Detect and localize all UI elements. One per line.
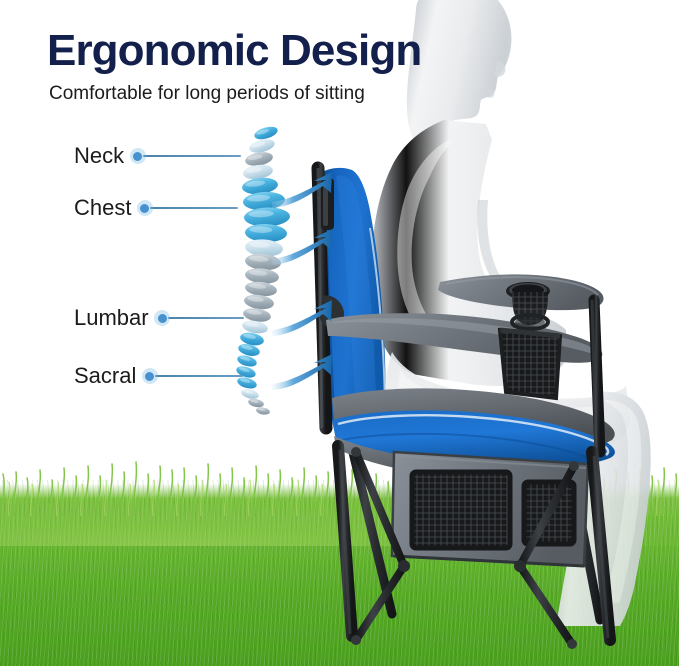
spine-vertebra-highlight <box>249 241 270 248</box>
spine-vertebra-highlight <box>247 154 263 161</box>
spine-vertebra-highlight <box>240 344 253 351</box>
spine-vertebra <box>248 137 276 155</box>
spine-vertebra <box>255 406 270 415</box>
callout-label: Neck <box>74 144 124 168</box>
support-arrow <box>272 354 332 390</box>
spine-vertebra-highlight <box>246 309 262 316</box>
chair-backrest <box>320 168 386 422</box>
spine-vertebra-highlight <box>247 194 270 202</box>
spine-vertebra <box>244 207 291 228</box>
spine-vertebra <box>244 267 279 285</box>
chair-armrest-right <box>438 274 604 329</box>
callout-lumbar[interactable]: Lumbar <box>74 306 244 330</box>
spine-vertebra-highlight <box>257 408 265 412</box>
callout-dot-icon <box>145 372 154 381</box>
spine-vertebra <box>244 150 274 168</box>
spine-vertebra-highlight <box>249 255 269 262</box>
spine-vertebra-highlight <box>239 355 251 361</box>
spine-vertebra <box>253 124 279 141</box>
spine-vertebra <box>247 397 264 408</box>
spine-vertebra-highlight <box>251 141 266 149</box>
page-title: Ergonomic Design <box>47 26 421 76</box>
spine-vertebra-highlight <box>247 295 264 302</box>
spine-vertebra <box>244 238 283 258</box>
spine-vertebra-highlight <box>245 167 262 174</box>
spine-vertebra <box>244 252 281 271</box>
spine-vertebra <box>245 223 288 242</box>
mannequin-thigh <box>386 352 630 458</box>
support-arrow <box>272 229 332 265</box>
spine-vertebra <box>240 387 260 400</box>
support-arrow <box>272 172 332 208</box>
spine-vertebra <box>243 293 275 311</box>
product-infographic-canvas: NeckChestLumbarSacral Ergonomic Design C… <box>0 0 679 666</box>
spine-vertebra-highlight <box>250 399 259 404</box>
callout-neck[interactable]: Neck <box>74 144 241 168</box>
grass-blades <box>0 446 679 516</box>
support-arrow <box>272 300 332 336</box>
callout-label: Lumbar <box>74 306 149 330</box>
chair-back-frame <box>318 168 344 428</box>
callout-dot-icon <box>158 314 167 323</box>
spine-vertebra-highlight <box>248 283 266 290</box>
spine-vertebra-highlight <box>245 180 265 188</box>
spine-vertebra-highlight <box>243 389 253 394</box>
callout-sacral[interactable]: Sacral <box>74 364 243 388</box>
chair-armrest-left <box>326 313 602 363</box>
spine-vertebra <box>241 176 278 196</box>
spine-vertebra <box>241 319 269 335</box>
spine-vertebra-highlight <box>248 210 274 218</box>
spine-vertebra <box>242 306 272 323</box>
callout-leader-line <box>155 375 243 377</box>
chair-front-post-right <box>592 300 600 452</box>
mannequin-head <box>407 0 512 156</box>
spine-vertebra-highlight <box>245 321 260 328</box>
callout-chest[interactable]: Chest <box>74 196 238 220</box>
spine-vertebra-highlight <box>248 269 267 276</box>
spine-vertebra <box>237 342 261 358</box>
spine-vertebra <box>242 191 285 212</box>
spine-vertebra <box>239 331 265 348</box>
spine-vertebra-highlight <box>243 333 257 340</box>
chair-side-mesh-pocket <box>500 330 560 398</box>
mannequin-torso <box>371 120 566 386</box>
callout-leader-line <box>150 207 238 209</box>
spine-vertebra <box>244 280 277 298</box>
callout-leader-line <box>143 155 241 157</box>
page-subtitle: Comfortable for long periods of sitting <box>49 83 365 105</box>
callout-label: Chest <box>74 196 131 220</box>
callout-dot-icon <box>133 152 142 161</box>
spine-vertebra-highlight <box>256 128 270 135</box>
callout-label: Sacral <box>74 364 136 388</box>
spine-vertebra-highlight <box>249 226 272 233</box>
spine-vertebra <box>242 163 274 181</box>
callout-dot-icon <box>140 204 149 213</box>
callout-leader-line <box>168 317 244 319</box>
